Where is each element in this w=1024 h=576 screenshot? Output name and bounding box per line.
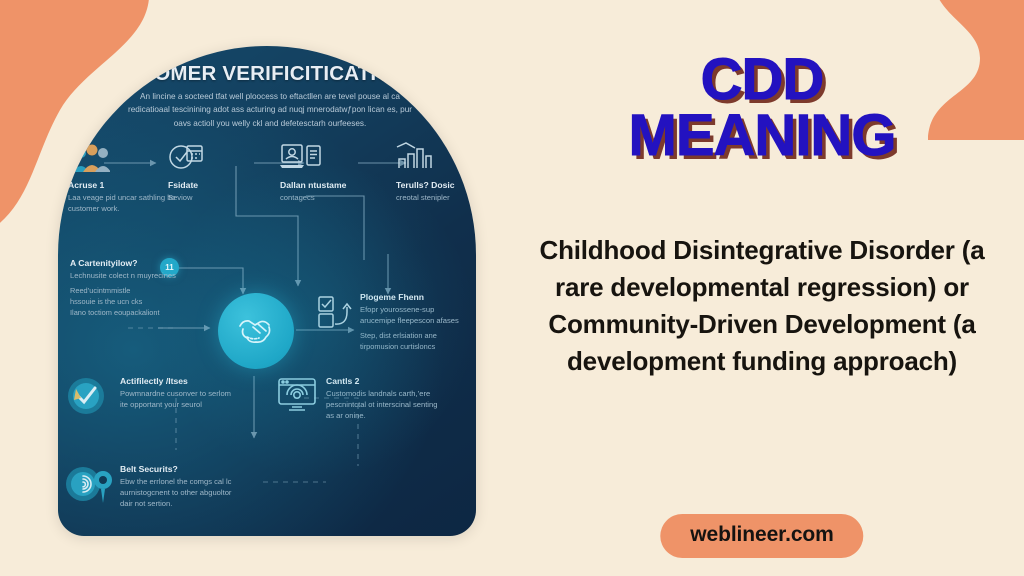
node-people-head: Acruse 1 <box>68 180 180 190</box>
calendar-check-icon <box>168 142 204 174</box>
node-results-head: Terulls? Dosic <box>396 180 476 190</box>
infographic-title: CUSTOMER VERIFICITICATION <box>98 62 450 86</box>
id-document-icon <box>280 142 322 174</box>
node-program-body: Efopr yourossene-sup arucemipe fleepesco… <box>360 304 470 326</box>
node-results-body: creotal stenipler <box>396 192 476 203</box>
right-panel: CDD MEANING Childhood Disintegrative Dis… <box>500 0 1024 576</box>
node-controls-body: Customodis landnals carth,’ere pescnintc… <box>326 388 442 422</box>
bullet-item: Step, dist erlsiation ane tirpomusion cu… <box>360 331 470 353</box>
node-data-head: Dallan ntustame <box>280 180 380 190</box>
handshake-icon <box>234 309 278 354</box>
node-controls: Cantls 2 Customodis landnals carth,’ere … <box>326 376 442 422</box>
fingerprint-scan-icon <box>64 464 116 506</box>
node-workflow: A Cartenityilow? Lechnusite colect n muy… <box>70 258 182 319</box>
bar-buildings-icon <box>396 142 434 174</box>
page-title: CDD MEANING <box>500 52 1024 163</box>
node-activity: Actifilectly /Itses Powmnardne cusonver … <box>120 376 232 410</box>
node-people-body: Laa veage pid uncar sathling lto custome… <box>68 192 180 214</box>
shield-check-icon <box>66 376 106 416</box>
infographic-card: CUSTOMER VERIFICITICATION An lincine a s… <box>58 46 476 536</box>
node-people: Acruse 1 Laa veage pid uncar sathling lt… <box>68 180 180 214</box>
node-results: Terulls? Dosic creotal stenipler <box>396 180 476 203</box>
node-workflow-body: Lechnusite colect n muyrecines <box>70 270 182 281</box>
node-workflow-head: A Cartenityilow? <box>70 258 182 268</box>
node-workflow-bullets: Reed’ucintmmistle hssouie is the ucn cks… <box>70 286 182 318</box>
node-validate-body: Seviow <box>168 192 258 203</box>
node-activity-body: Powmnardne cusonver to serlom ite opport… <box>120 388 232 410</box>
node-controls-head: Cantls 2 <box>326 376 442 386</box>
bullet-item: Ilano toctiom eoupackaliont <box>70 308 182 319</box>
title-line-2: MEANING <box>500 108 1024 164</box>
infographic-subtitle: An lincine a socteed tfat well ploocess … <box>120 90 420 130</box>
node-security-head: Belt Securits? <box>120 464 238 474</box>
node-program-bullets: Step, dist erlsiation ane tirpomusion cu… <box>360 331 470 353</box>
node-data-body: contagecs <box>280 192 380 203</box>
node-validate-head: Fsidate <box>168 180 258 190</box>
node-security: Belt Securits? Ebw the errlonel the comg… <box>120 464 238 510</box>
central-hub <box>218 293 294 369</box>
node-activity-head: Actifilectly /Itses <box>120 376 232 386</box>
node-program-head: Plogeme Fhenn <box>360 292 470 302</box>
node-data: Dallan ntustame contagecs <box>280 180 380 203</box>
bullet-item: Reed’ucintmmistle <box>70 286 182 297</box>
people-group-icon <box>72 144 110 174</box>
bullet-item: hssouie is the ucn cks <box>70 297 182 308</box>
definition-text: Childhood Disintegrative Disorder (a rar… <box>514 232 1010 380</box>
node-security-body: Ebw the errlonel the comgs cal lc aurnis… <box>120 476 238 510</box>
monitor-signal-icon <box>276 376 318 414</box>
node-validate: Fsidate Seviow <box>168 180 258 203</box>
document-arrow-icon <box>316 294 352 330</box>
brand-badge[interactable]: weblineer.com <box>660 514 863 558</box>
node-program: Plogeme Fhenn Efopr yourossene-sup aruce… <box>360 292 470 353</box>
